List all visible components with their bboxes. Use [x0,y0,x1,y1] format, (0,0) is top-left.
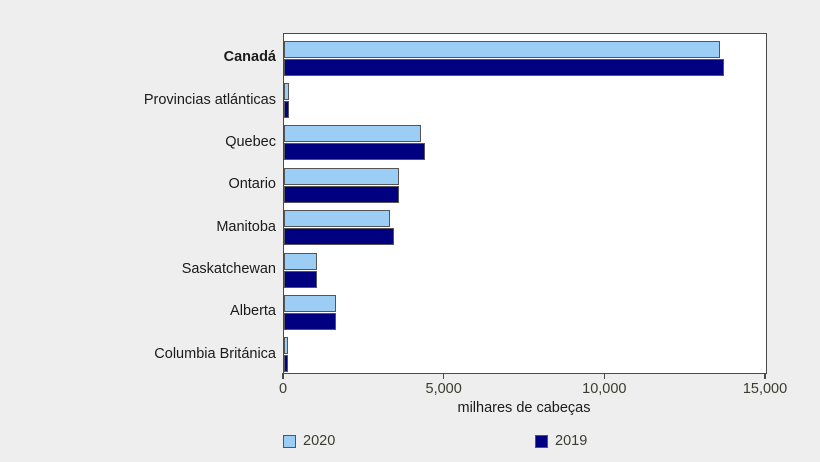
bar-2019-canadá [284,59,724,76]
bar-2020-columbia-británica [284,337,288,354]
x-tick-mark [443,373,445,379]
category-label: Columbia Británica [0,347,276,361]
bar-2019-manitoba [284,228,394,245]
legend-label: 2019 [555,434,587,448]
x-tick-label: 15,000 [743,381,787,397]
x-tick-label: 10,000 [582,381,626,397]
x-axis-title: milhares de cabeças [283,400,765,416]
bar-2019-saskatchewan [284,271,317,288]
bar-2020-provincias-atlánticas [284,83,289,100]
category-label: Quebec [0,135,276,149]
bar-2020-manitoba [284,210,390,227]
x-tick-mark [604,373,606,379]
category-label: Canadá [0,50,276,64]
legend-label: 2020 [303,434,335,448]
chart-legend: 20202019 [283,434,683,454]
category-label: Ontario [0,177,276,191]
dark-blue-swatch [535,435,548,448]
light-blue-swatch [283,435,296,448]
bar-2019-alberta [284,313,336,330]
legend-item-2019[interactable]: 2019 [535,434,587,448]
bar-2019-provincias-atlánticas [284,101,289,118]
bar-2020-saskatchewan [284,253,317,270]
bar-2020-ontario [284,168,399,185]
bar-2019-ontario [284,186,399,203]
bar-2019-columbia-británica [284,355,288,372]
bar-2020-quebec [284,125,421,142]
x-tick-mark [764,373,766,379]
category-label: Alberta [0,304,276,318]
bar-2020-alberta [284,295,336,312]
x-tick-mark [282,373,284,379]
x-tick-label: 5,000 [426,381,462,397]
plot-area [283,33,767,374]
category-label: Saskatchewan [0,262,276,276]
bars-layer [284,34,766,373]
x-tick-label: 0 [279,381,287,397]
bar-2020-canadá [284,41,720,58]
bar-2019-quebec [284,143,425,160]
legend-item-2020[interactable]: 2020 [283,434,335,448]
bar-chart: CanadáProvincias atlánticasQuebecOntario… [0,0,820,462]
category-label: Provincias atlánticas [0,93,276,107]
category-axis-labels: CanadáProvincias atlánticasQuebecOntario… [0,33,276,372]
category-label: Manitoba [0,220,276,234]
